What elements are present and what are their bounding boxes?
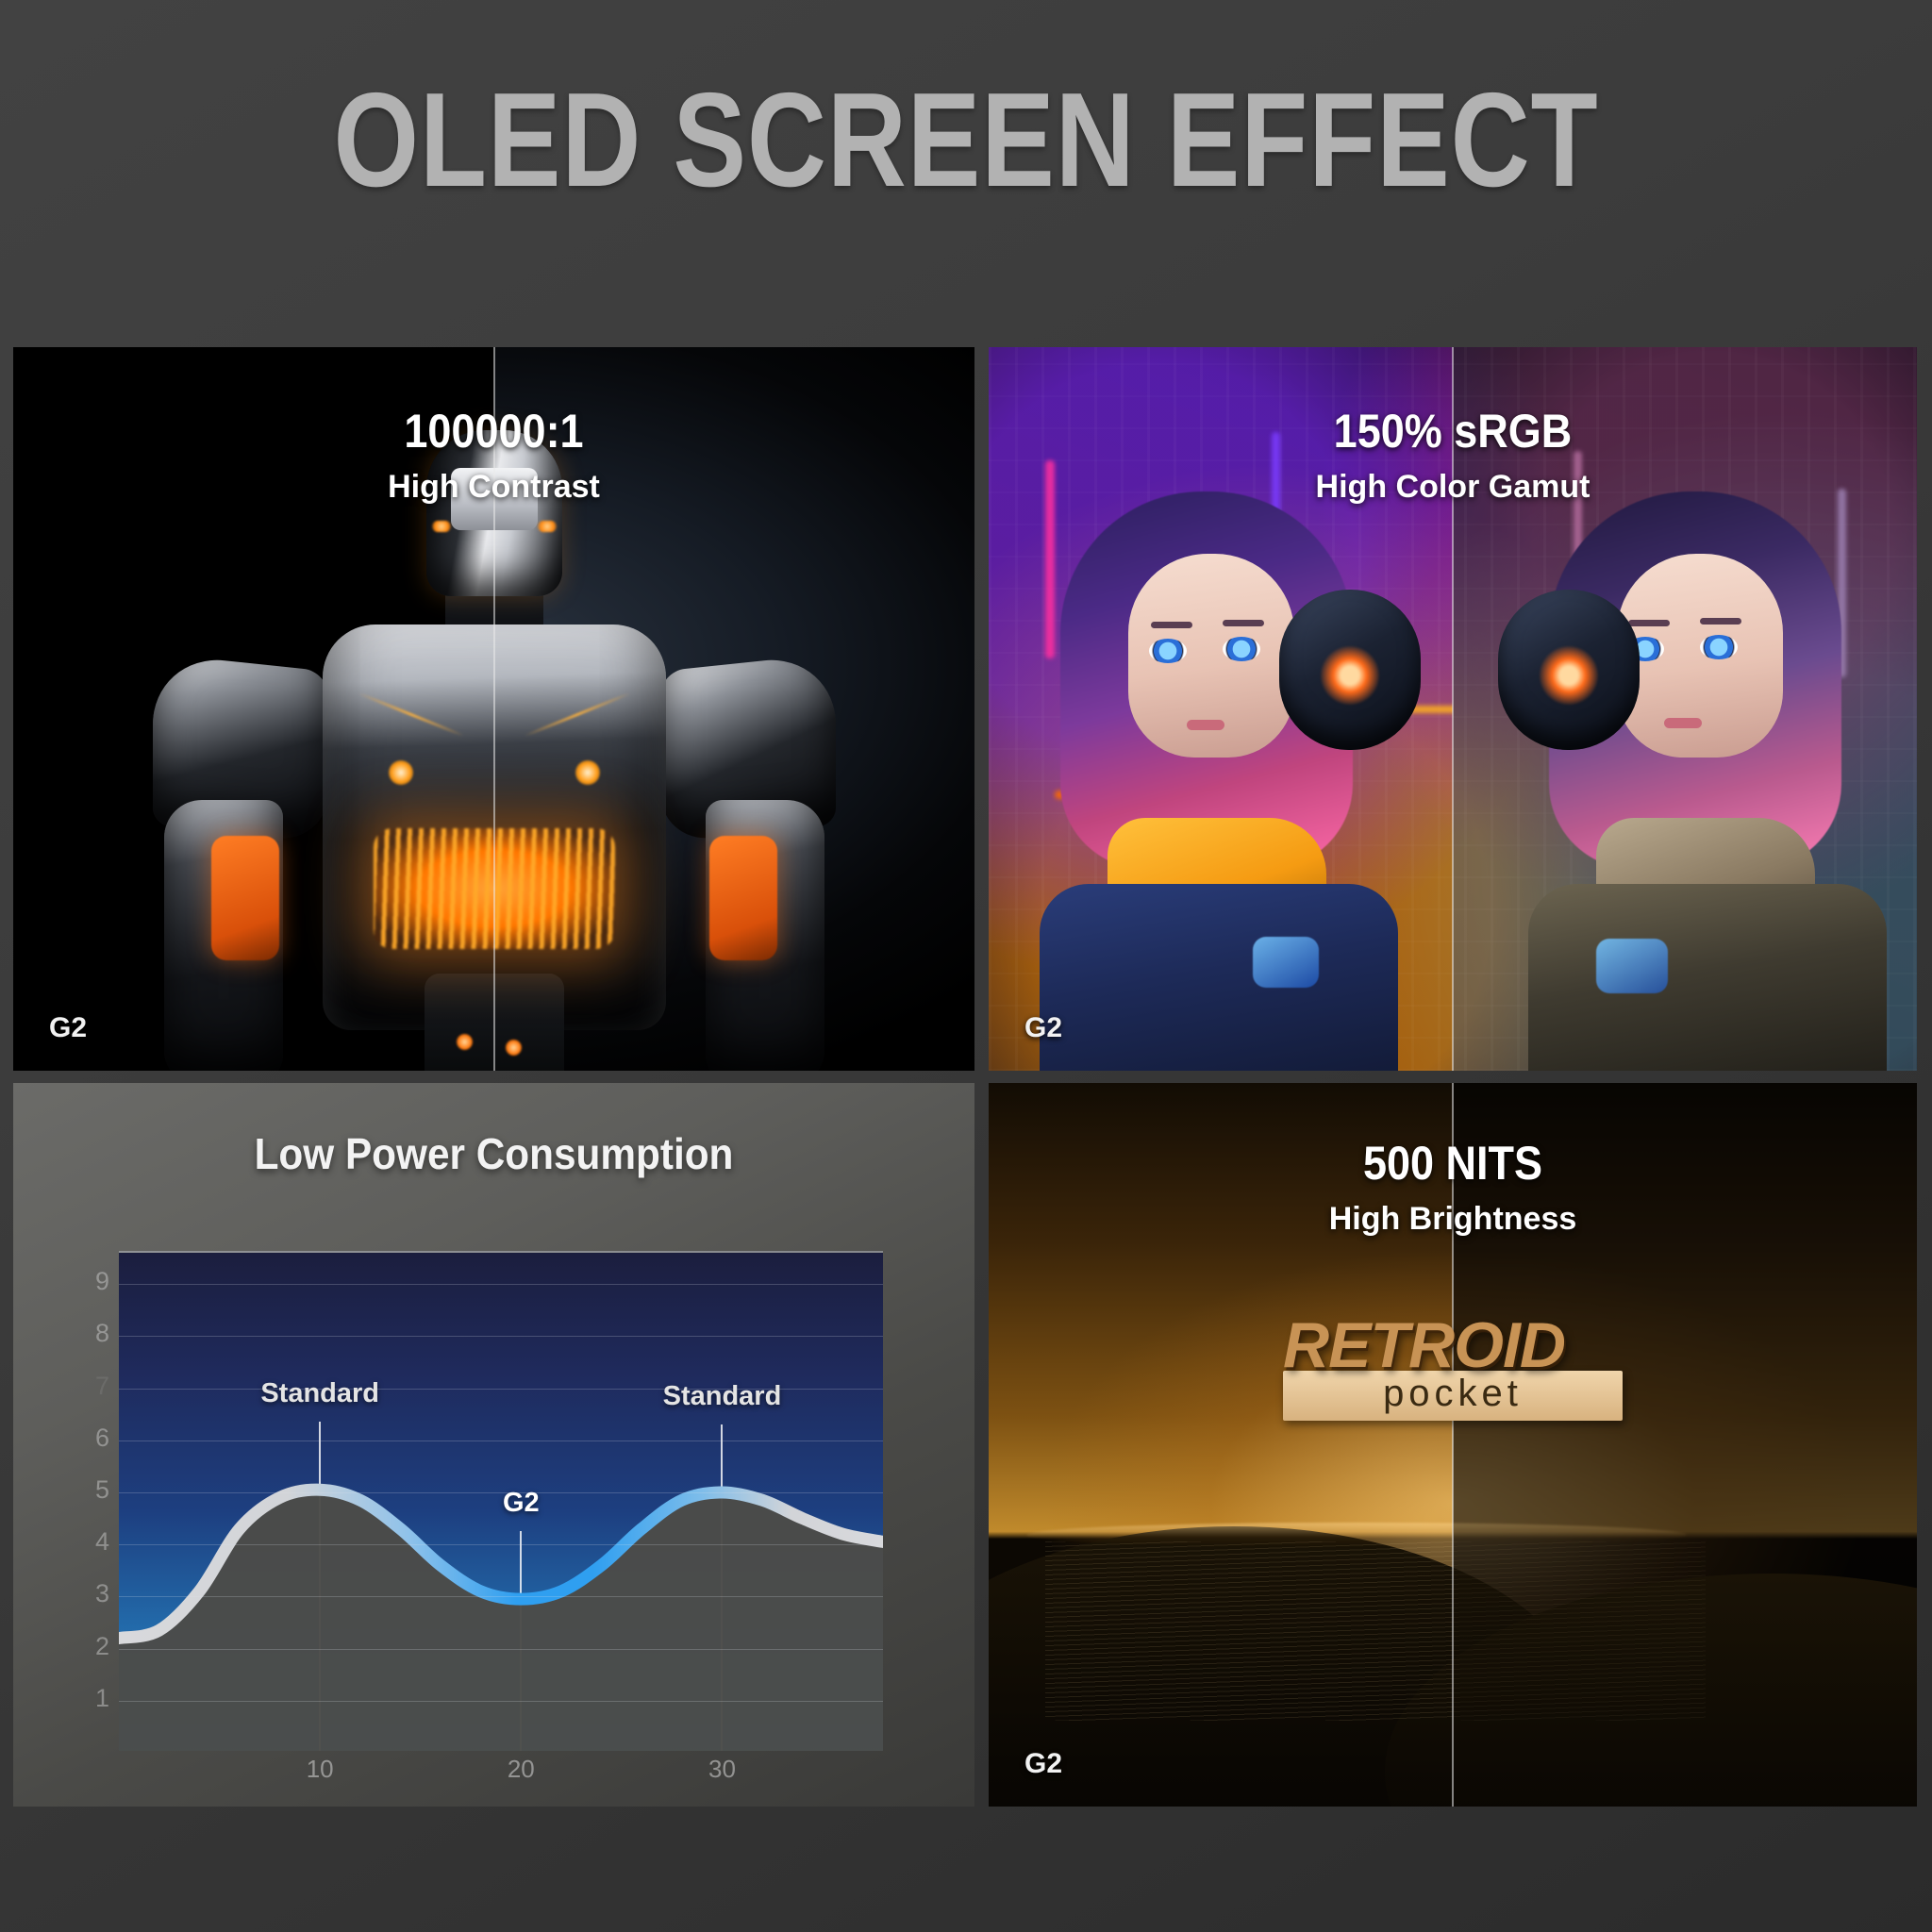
chart-curve <box>119 1253 883 1751</box>
chart-y-tick: 6 <box>95 1425 109 1451</box>
page-title: OLED SCREEN EFFECT <box>174 74 1757 208</box>
contrast-half-standard <box>13 347 494 1071</box>
chart-x-tick: 10 <box>307 1755 334 1784</box>
retroid-pocket-logo: RETROID pocket <box>1283 1315 1623 1421</box>
panel-low-power[interactable]: Low Power Consumption 123456789 <box>13 1083 974 1807</box>
gamut-half-standard <box>1453 347 1917 1071</box>
cyber-girl-standard <box>1506 467 1902 1071</box>
chart-title: Low Power Consumption <box>52 1128 936 1179</box>
cyber-girl-oled <box>1017 467 1413 1071</box>
chart-y-tick: 5 <box>95 1477 109 1503</box>
brightness-device-tag: G2 <box>1024 1748 1062 1780</box>
gamut-device-tag: G2 <box>1024 1012 1062 1044</box>
panel-high-brightness[interactable]: 500 NITS High Brightness RETROID pocket … <box>989 1083 1917 1807</box>
retroid-wordmark: RETROID <box>1283 1315 1623 1376</box>
mech-figure-dim <box>136 430 494 1071</box>
chart-gridline <box>119 1544 883 1545</box>
contrast-half-oled <box>494 347 975 1071</box>
brightness-half-oled <box>989 1083 1453 1807</box>
chart-y-axis-labels: 123456789 <box>57 1223 109 1779</box>
chart-y-tick: 2 <box>95 1634 109 1659</box>
power-chart: 123456789 <box>119 1251 883 1751</box>
panel-high-contrast[interactable]: 100000:1 High Contrast G2 <box>13 347 974 1071</box>
chart-gridline <box>119 1649 883 1650</box>
chart-y-tick: 9 <box>95 1269 109 1294</box>
mech-figure-oled <box>494 430 853 1071</box>
chart-x-axis-labels: 102030 <box>119 1755 883 1802</box>
brightness-half-standard <box>1453 1083 1917 1807</box>
chart-gridline <box>119 1701 883 1702</box>
gamut-half-oled <box>989 347 1453 1071</box>
poster-root: OLED SCREEN EFFECT <box>0 0 1932 1932</box>
chart-y-tick: 4 <box>95 1529 109 1555</box>
chart-y-tick: 7 <box>95 1374 109 1399</box>
contrast-device-tag: G2 <box>49 1012 87 1044</box>
chart-y-tick: 3 <box>95 1581 109 1607</box>
panel-color-gamut[interactable]: 150% sRGB High Color Gamut G2 <box>989 347 1917 1071</box>
chart-y-tick: 1 <box>95 1686 109 1711</box>
chart-y-tick: 8 <box>95 1321 109 1346</box>
chart-x-tick: 30 <box>708 1755 736 1784</box>
chart-gridline <box>119 1596 883 1597</box>
chart-gridline <box>119 1492 883 1493</box>
chart-plot-area: StandardG2Standard <box>119 1251 883 1751</box>
chart-x-tick: 20 <box>508 1755 535 1784</box>
